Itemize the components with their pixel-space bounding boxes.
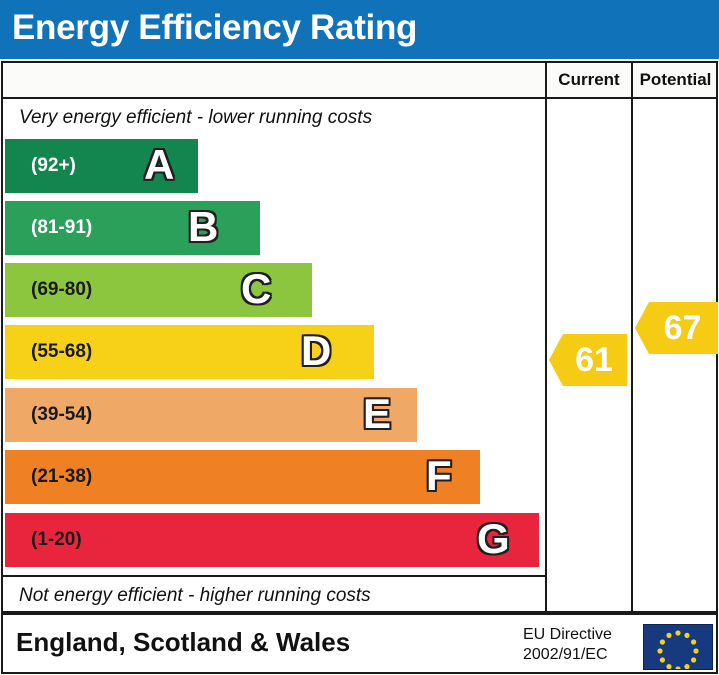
band-d-letter: D	[301, 325, 331, 379]
certificate-footer: England, Scotland & Wales EU Directive 2…	[1, 613, 718, 674]
rating-bands: (92+) A (81-91) B (69-80) C (55-68) D (3…	[5, 139, 545, 575]
footer-directive-line2: 2002/91/EC	[523, 645, 612, 665]
potential-rating-marker: 67	[635, 302, 718, 354]
footer-directive-line1: EU Directive	[523, 625, 612, 645]
band-g: (1-20) G	[5, 513, 539, 567]
band-g-range: (1-20)	[31, 513, 82, 567]
band-f: (21-38) F	[5, 450, 480, 504]
band-b-range: (81-91)	[31, 201, 92, 255]
band-e-letter: E	[363, 388, 391, 442]
column-header-potential: Potential	[633, 63, 718, 97]
band-g-letter: G	[477, 513, 510, 567]
page-title: Energy Efficiency Rating	[12, 8, 417, 48]
band-d-range: (55-68)	[31, 325, 92, 379]
column-separator-potential	[631, 63, 633, 611]
band-b-letter: B	[188, 201, 218, 255]
eu-flag-icon	[643, 624, 713, 670]
current-rating-marker: 61	[549, 334, 627, 386]
band-a-range: (92+)	[31, 139, 76, 193]
chart-header-banner: Energy Efficiency Rating	[0, 0, 719, 59]
band-c-range: (69-80)	[31, 263, 92, 317]
footer-region-label: England, Scotland & Wales	[16, 627, 350, 658]
footer-directive: EU Directive 2002/91/EC	[523, 625, 612, 665]
band-a-letter: A	[144, 139, 174, 193]
band-c-letter: C	[241, 263, 271, 317]
band-f-letter: F	[426, 450, 452, 504]
eu-flag-stars-icon	[644, 625, 712, 669]
energy-efficiency-rating-certificate: Energy Efficiency Rating Current Potenti…	[0, 0, 719, 675]
caption-very-efficient: Very energy efficient - lower running co…	[3, 99, 545, 137]
band-e: (39-54) E	[5, 388, 417, 442]
band-a: (92+) A	[5, 139, 198, 193]
rating-table: Current Potential Very energy efficient …	[1, 61, 718, 613]
band-d: (55-68) D	[5, 325, 374, 379]
column-separator-current	[545, 63, 547, 611]
column-header-current: Current	[547, 63, 631, 97]
band-b: (81-91) B	[5, 201, 260, 255]
band-f-range: (21-38)	[31, 450, 92, 504]
caption-not-efficient: Not energy efficient - higher running co…	[3, 575, 545, 613]
band-c: (69-80) C	[5, 263, 312, 317]
band-e-range: (39-54)	[31, 388, 92, 442]
